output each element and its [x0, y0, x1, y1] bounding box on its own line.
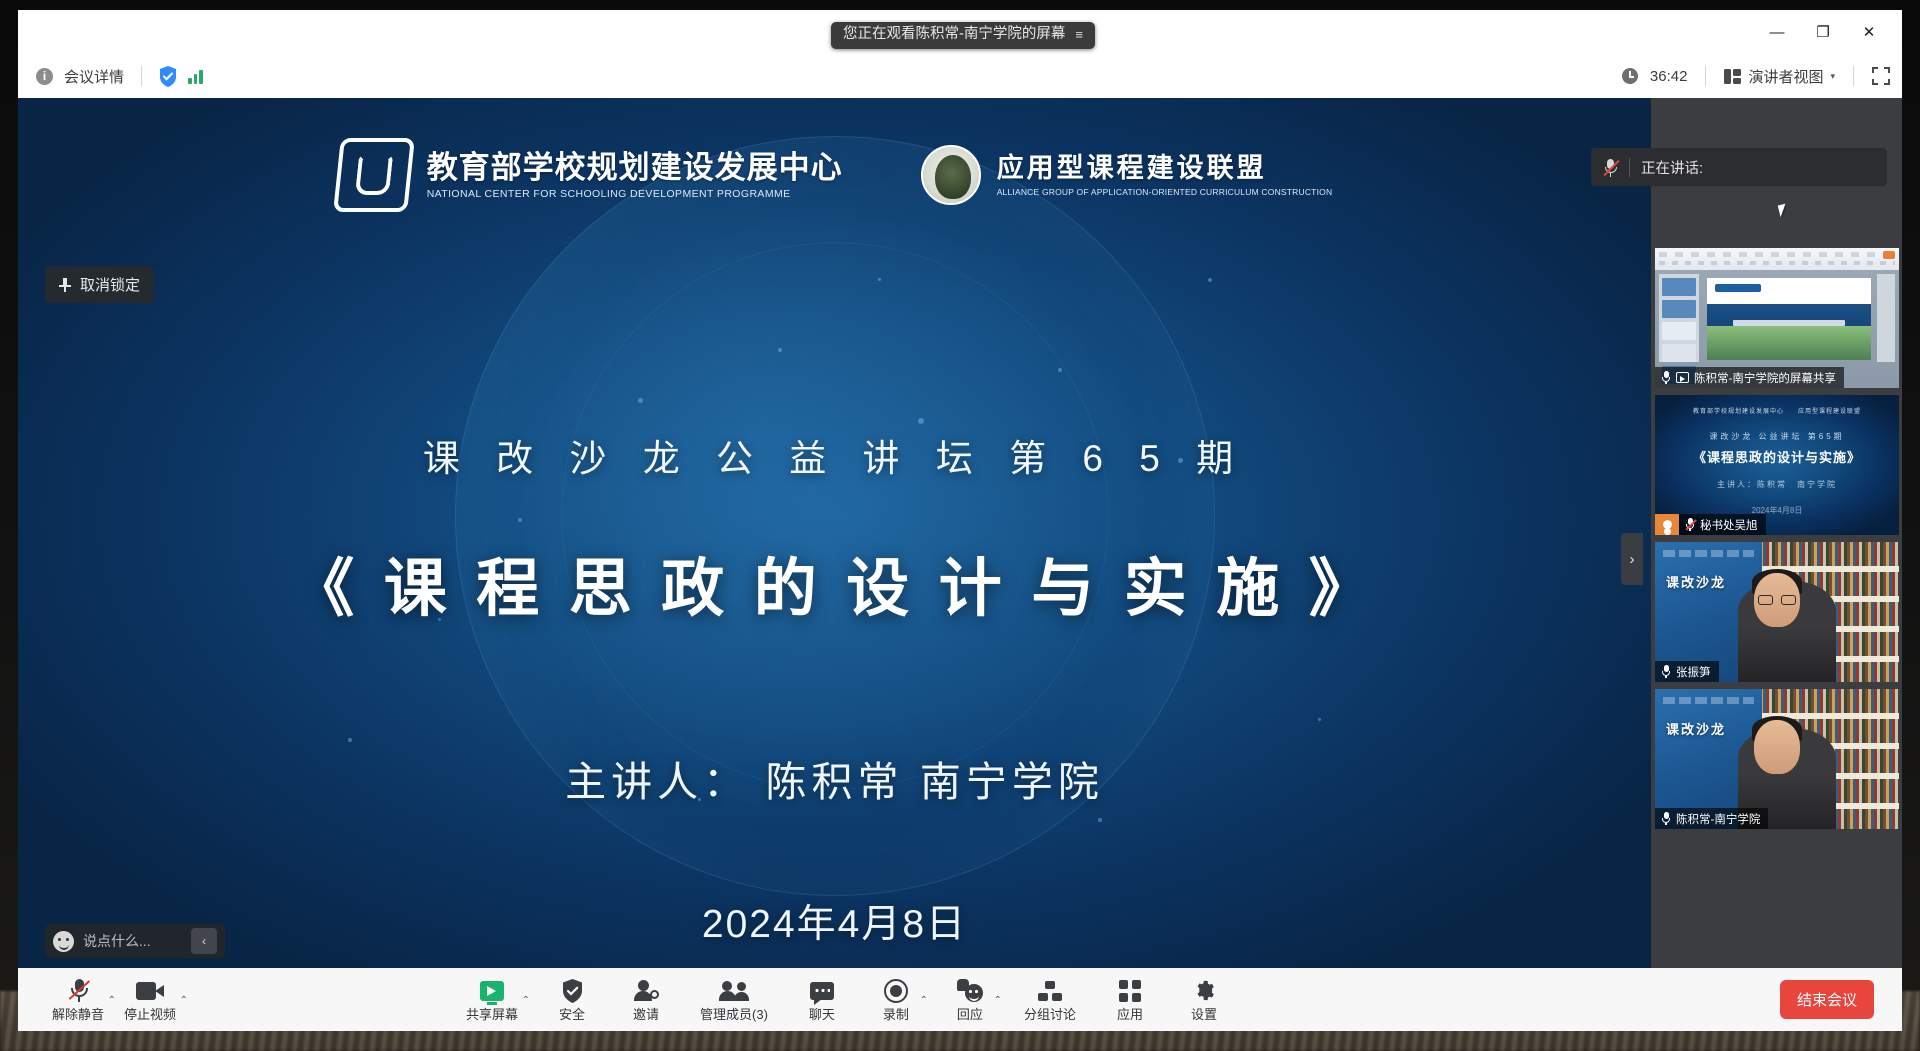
smiley-icon[interactable]: [53, 931, 74, 952]
gear-icon: [1192, 977, 1215, 1005]
breakout-rooms-label: 分组讨论: [1024, 1008, 1076, 1023]
alliance-seal-logo: [921, 145, 981, 205]
participant-thumbnail-zhangzhensun[interactable]: 课改沙龙 张振笋: [1655, 542, 1899, 682]
watching-banner[interactable]: 您正在观看陈积常-南宁学院的屏幕 ≡: [831, 22, 1095, 49]
apps-button[interactable]: 应用: [1102, 973, 1158, 1027]
mic-icon: [1661, 371, 1671, 384]
participant-name: 陈积常-南宁学院的屏幕共享: [1694, 370, 1836, 386]
logo-ncsdp-en: NATIONAL CENTER FOR SCHOOLING DEVELOPMEN…: [427, 188, 843, 200]
mic-icon: [1661, 812, 1671, 825]
end-meeting-button[interactable]: 结束会议: [1780, 980, 1874, 1019]
record-label: 录制: [883, 1008, 909, 1023]
stop-video-button[interactable]: 停止视频 ⌃: [116, 973, 184, 1027]
topbar-divider-2: [1705, 66, 1706, 86]
window-controls: — ❐ ✕: [1754, 10, 1892, 54]
manage-participants-label: 管理成员(3): [700, 1008, 768, 1023]
view-mode-selector[interactable]: 演讲者视图 ▾: [1724, 66, 1835, 87]
logo-ncsdp: 教育部学校规划建设发展中心 NATIONAL CENTER FOR SCHOOL…: [337, 138, 843, 212]
manage-participants-button[interactable]: 管理成员(3): [692, 973, 776, 1027]
participant-name: 陈积常-南宁学院: [1676, 811, 1760, 827]
virtual-bg-text: 课改沙龙: [1666, 719, 1726, 738]
reactions-button[interactable]: 回应 ⌃: [942, 973, 998, 1027]
virtual-bg-text: 课改沙龙: [1666, 572, 1726, 591]
thumbnail-label: 陈积常-南宁学院的屏幕共享: [1655, 367, 1844, 388]
minimize-button[interactable]: —: [1754, 10, 1800, 54]
slide-speaker: 主讲人： 陈积常 南宁学院: [18, 748, 1651, 808]
breakout-rooms-icon: [1038, 977, 1062, 1005]
logo-alliance-cn: 应用型课程建设联盟: [997, 153, 1333, 184]
list-menu-icon[interactable]: ≡: [1075, 28, 1083, 42]
video-options-chevron-icon[interactable]: ⌃: [180, 995, 188, 1007]
meeting-control-bar: 解除静音 ⌃ 停止视频 ⌃ 共享屏幕 ⌃: [18, 968, 1902, 1031]
active-speaker-label: 正在讲话:: [1641, 157, 1703, 178]
signal-bars-icon[interactable]: [188, 69, 203, 84]
meeting-details-label[interactable]: 会议详情: [64, 66, 124, 87]
pin-icon: [59, 278, 71, 292]
share-options-chevron-icon[interactable]: ⌃: [522, 995, 530, 1007]
layout-speaker-icon: [1724, 69, 1741, 84]
chevron-down-icon: ▾: [1830, 71, 1835, 82]
maximize-button[interactable]: ❐: [1800, 10, 1846, 54]
logo-ncsdp-cn: 教育部学校规划建设发展中心: [427, 150, 843, 186]
topbar-right-group: 36:42 演讲者视图 ▾: [1622, 66, 1890, 87]
participant-thumbnail-wuxu[interactable]: 教育部学校规划建设发展中心 应用型课程建设联盟 课改沙龙 公益讲坛 第65期 《…: [1655, 395, 1899, 535]
reactions-label: 回应: [957, 1008, 983, 1023]
unpin-label: 取消锁定: [80, 274, 140, 295]
mic-muted-icon: [1603, 158, 1618, 177]
slide-kicker: 课 改 沙 龙 公 益 讲 坛 第 6 5 期: [18, 428, 1651, 482]
watching-banner-text: 您正在观看陈积常-南宁学院的屏幕: [843, 27, 1065, 43]
unmute-button[interactable]: 解除静音 ⌃: [44, 973, 112, 1027]
close-button[interactable]: ✕: [1846, 10, 1892, 54]
clock-icon: [1622, 68, 1638, 84]
shield-icon: [562, 977, 583, 1005]
security-button[interactable]: 安全: [544, 973, 600, 1027]
zoom-meeting-window: — ❐ ✕ 您正在观看陈积常-南宁学院的屏幕 ≡ i 会议详情 36:42: [0, 0, 1920, 1051]
panel-toggle-button[interactable]: ›: [1621, 533, 1643, 585]
topbar-left-group: i 会议详情: [36, 66, 203, 87]
info-icon[interactable]: i: [36, 68, 53, 85]
share-screen-label: 共享屏幕: [466, 1008, 518, 1023]
unpin-button[interactable]: 取消锁定: [45, 266, 154, 303]
slide-date: 2024年4月8日: [18, 893, 1651, 949]
security-label: 安全: [559, 1008, 585, 1023]
meeting-timer: 36:42: [1650, 68, 1688, 85]
reaction-input[interactable]: 说点什么...: [83, 931, 182, 951]
shield-check-icon[interactable]: [159, 66, 177, 87]
stop-video-label: 停止视频: [124, 1008, 176, 1023]
participant-thumbnail-list: 陈积常-南宁学院的屏幕共享 教育部学校规划建设发展中心 应用型课程建设联盟 课改…: [1651, 248, 1902, 836]
mic-muted-icon: [1685, 518, 1695, 531]
slide-logo-row: 教育部学校规划建设发展中心 NATIONAL CENTER FOR SCHOOL…: [18, 138, 1651, 212]
control-bar-right: 结束会议: [1780, 980, 1902, 1019]
unmute-label: 解除静音: [52, 1008, 104, 1023]
chat-icon: [810, 977, 834, 1005]
settings-label: 设置: [1191, 1008, 1217, 1023]
thumbnail-label: 张振笋: [1655, 661, 1719, 682]
meeting-topbar: i 会议详情 36:42 演讲者视图 ▾: [18, 54, 1902, 98]
fullscreen-icon[interactable]: [1872, 67, 1890, 85]
participant-name: 秘书处吴旭: [1700, 517, 1758, 533]
participant-thumbnail-chenjichang[interactable]: 课改沙龙 陈积常-南宁学院: [1655, 689, 1899, 829]
ncsdp-hexagon-logo: [337, 138, 411, 212]
reaction-input-bar[interactable]: 说点什么... ‹: [45, 924, 225, 958]
topbar-divider-3: [1853, 66, 1854, 86]
control-bar-left: 解除静音 ⌃ 停止视频 ⌃: [18, 973, 184, 1027]
reactions-icon: [957, 977, 983, 1005]
share-screen-button[interactable]: 共享屏幕 ⌃: [458, 973, 526, 1027]
chat-button[interactable]: 聊天: [794, 973, 850, 1027]
shared-screen-stage[interactable]: 教育部学校规划建设发展中心 NATIONAL CENTER FOR SCHOOL…: [18, 98, 1651, 968]
share-screen-icon: [480, 977, 504, 1005]
record-icon: [884, 977, 908, 1005]
apps-label: 应用: [1117, 1008, 1143, 1023]
invite-label: 邀请: [633, 1008, 659, 1023]
control-bar-center: 共享屏幕 ⌃ 安全 邀请 管理成员(3): [458, 973, 1232, 1027]
slide-title: 《 课 程 思 政 的 设 计 与 实 施 》: [18, 538, 1651, 629]
breakout-rooms-button[interactable]: 分组讨论: [1016, 973, 1084, 1027]
mic-icon: [1661, 665, 1671, 678]
participants-icon: [720, 977, 748, 1005]
avatar: [1655, 514, 1679, 535]
record-options-chevron-icon[interactable]: ⌃: [920, 995, 928, 1007]
invite-person-icon: [634, 977, 659, 1005]
thumbnail-label: 陈积常-南宁学院: [1655, 808, 1768, 829]
topbar-divider: [141, 66, 142, 86]
collapse-icon[interactable]: ‹: [191, 928, 217, 954]
participant-thumbnail-screenshare[interactable]: 陈积常-南宁学院的屏幕共享: [1655, 248, 1899, 388]
logo-alliance-en: ALLIANCE GROUP OF APPLICATION-ORIENTED C…: [997, 187, 1333, 197]
mic-muted-icon: [69, 977, 88, 1005]
settings-button[interactable]: 设置: [1176, 973, 1232, 1027]
camera-icon: [136, 977, 164, 1005]
record-button[interactable]: 录制 ⌃: [868, 973, 924, 1027]
audio-options-chevron-icon[interactable]: ⌃: [108, 995, 116, 1007]
slide-content: 教育部学校规划建设发展中心 NATIONAL CENTER FOR SCHOOL…: [18, 98, 1651, 968]
logo-alliance: 应用型课程建设联盟 ALLIANCE GROUP OF APPLICATION-…: [921, 145, 1333, 205]
screen-share-icon: [1676, 372, 1689, 383]
reactions-options-chevron-icon[interactable]: ⌃: [994, 995, 1002, 1007]
chat-label: 聊天: [809, 1008, 835, 1023]
apps-icon: [1119, 977, 1141, 1005]
active-speaker-banner: 正在讲话:: [1591, 148, 1887, 186]
participant-name: 张振笋: [1676, 664, 1711, 680]
view-mode-label: 演讲者视图: [1748, 66, 1823, 87]
invite-button[interactable]: 邀请: [618, 973, 674, 1027]
thumbnail-label: 秘书处吴旭: [1679, 514, 1766, 535]
